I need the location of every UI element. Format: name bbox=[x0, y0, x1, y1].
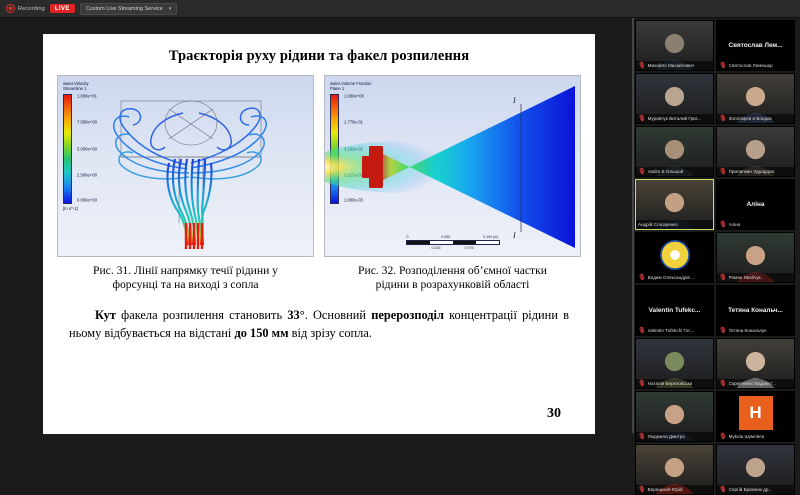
microphone-muted-icon: 🎙 bbox=[719, 63, 727, 69]
section-label-bottom: I bbox=[512, 231, 516, 240]
participant-avatar: Н bbox=[739, 396, 773, 430]
participant-tile[interactable]: 🎙Верецький Юрій bbox=[635, 444, 714, 495]
paragraph-emphasis: Кут bbox=[95, 308, 116, 322]
participant-name: Вадим Олександрів ... bbox=[648, 275, 695, 280]
participant-tile[interactable]: 🎙Вадим Олександрів ... bbox=[635, 232, 714, 283]
stream-service-dropdown[interactable]: Custom Live Streaming Service ▾ bbox=[80, 3, 178, 15]
participant-namebar: 🎙Сергій Бражник др.. bbox=[717, 485, 794, 494]
spray-cone-plot: I I bbox=[325, 76, 581, 256]
participant-tile[interactable]: 🎙Vadim Б Ольшой bbox=[635, 126, 714, 177]
microphone-muted-icon: 🎙 bbox=[638, 275, 646, 281]
participant-namebar: Андрій Слісаренко bbox=[636, 220, 713, 229]
figure-32-caption: Рис. 32. Розподілення об’ємної частки рі… bbox=[324, 264, 581, 293]
live-badge: LIVE bbox=[50, 4, 75, 13]
figure-31-colorbar bbox=[63, 94, 72, 204]
participant-name: Людмила Дмитро bbox=[648, 434, 685, 439]
participant-tile[interactable]: 🎙Муравчук Виталий Григ... bbox=[635, 73, 714, 124]
recording-label: Recording bbox=[18, 6, 45, 12]
figure-31: water.Velocity Streamline 1 1.000e+01 7.… bbox=[57, 75, 314, 293]
microphone-muted-icon: 🎙 bbox=[719, 222, 727, 228]
participant-namebar: 🎙Прилипкин Эдуардов. bbox=[717, 167, 794, 176]
participant-name: Valentin Tufekchi Гос... bbox=[648, 328, 695, 333]
scale-subtick: 0.075 bbox=[465, 246, 474, 250]
figure-32-caption-line2: рідини в розрахунковій області bbox=[324, 278, 581, 292]
microphone-muted-icon: 🎙 bbox=[638, 63, 646, 69]
microphone-muted-icon: 🎙 bbox=[638, 169, 646, 175]
participant-name: Vadim Б Ольшой bbox=[648, 169, 684, 174]
presentation-slide: Траєкторія руху рідини та факел розпилен… bbox=[43, 34, 595, 434]
shared-screen-stage[interactable]: Траєкторія руху рідини та факел розпилен… bbox=[0, 18, 632, 433]
participant-name: Золотарев и Бондас bbox=[729, 116, 772, 121]
participant-tile[interactable]: 🎙Наталія Березовська bbox=[635, 338, 714, 389]
participant-namebar: 🎙Михайло Михайлович bbox=[636, 61, 713, 70]
stream-service-label: Custom Live Streaming Service bbox=[86, 6, 163, 12]
figure-31-caption-line2: форсунці та на виході з сопла bbox=[57, 278, 314, 292]
participant-name: Аліна bbox=[729, 222, 741, 227]
participant-namebar: 🎙Муравчук Виталий Григ... bbox=[636, 114, 713, 123]
paragraph-text: . Основний bbox=[305, 308, 372, 322]
organization-logo-icon bbox=[660, 240, 690, 270]
participant-namebar: 🎙Людмила Дмитро bbox=[636, 432, 713, 441]
section-label-top: I bbox=[512, 96, 516, 105]
microphone-muted-icon: 🎙 bbox=[719, 116, 727, 122]
participant-name: Тетяна Кональчук bbox=[729, 328, 767, 333]
scale-tick: 0.100 (m) bbox=[483, 235, 498, 239]
figure-32-canvas: water.Volume Fraction Plane 1 1.000e+00 … bbox=[324, 75, 581, 257]
participant-name: Михайло Михайлович bbox=[648, 63, 695, 68]
paragraph-emphasis: до 150 мм bbox=[234, 326, 288, 340]
participant-tile[interactable]: Тетяна Кональч...🎙Тетяна Кональчук bbox=[716, 285, 795, 336]
microphone-muted-icon: 🎙 bbox=[719, 434, 727, 440]
paragraph-emphasis: 33° bbox=[287, 308, 304, 322]
participant-namebar: 🎙Mykola Шумляєв bbox=[717, 432, 794, 441]
participant-namebar: 🎙Роман Якобчук . bbox=[717, 273, 794, 282]
chevron-down-icon: ▾ bbox=[169, 6, 172, 12]
microphone-muted-icon: 🎙 bbox=[719, 381, 727, 387]
meeting-window: Recording LIVE Custom Live Streaming Ser… bbox=[0, 0, 800, 433]
participant-tile[interactable]: 🎙Скрипченко Вадим Г... bbox=[716, 338, 795, 389]
microphone-muted-icon: 🎙 bbox=[719, 487, 727, 493]
participant-tile[interactable]: Святослав Лем...🎙Святослав Лемешар bbox=[716, 20, 795, 71]
participant-namebar: 🎙Верецький Юрій bbox=[636, 485, 713, 494]
participant-tile[interactable]: Valentin Tufekc...🎙Valentin Tufekchi Гос… bbox=[635, 285, 714, 336]
participant-name: Верецький Юрій bbox=[648, 487, 683, 492]
participant-namebar: 🎙Скрипченко Вадим Г... bbox=[717, 379, 794, 388]
figure-31-canvas: water.Velocity Streamline 1 1.000e+01 7.… bbox=[57, 75, 314, 257]
slide-title: Траєкторія руху рідини та факел розпилен… bbox=[43, 48, 595, 65]
paragraph-text: факела розпилення становить bbox=[116, 308, 287, 322]
participant-tile[interactable]: 🎙Михайло Михайлович bbox=[635, 20, 714, 71]
participant-namebar: 🎙Наталія Березовська bbox=[636, 379, 713, 388]
participant-namebar: 🎙Золотарев и Бондас bbox=[717, 114, 794, 123]
microphone-muted-icon: 🎙 bbox=[719, 275, 727, 281]
figure-32-scalebar: 0 0.050 0.100 (m) 0.025 bbox=[406, 235, 500, 250]
participant-tile[interactable]: 🎙Золотарев и Бондас bbox=[716, 73, 795, 124]
participant-name: Роман Якобчук . bbox=[729, 275, 764, 280]
participant-name: Прилипкин Эдуардов. bbox=[729, 169, 776, 174]
meeting-body: Траєкторія руху рідини та факел розпилен… bbox=[0, 18, 800, 433]
participants-grid[interactable]: 🎙Михайло МихайловичСвятослав Лем...🎙Свят… bbox=[634, 18, 800, 433]
participant-tile[interactable]: 🎙Людмила Дмитро bbox=[635, 391, 714, 442]
participant-name: Андрій Слісаренко bbox=[638, 222, 678, 227]
microphone-muted-icon: 🎙 bbox=[638, 381, 646, 387]
participant-namebar: 🎙Vadim Б Ольшой bbox=[636, 167, 713, 176]
recording-indicator: Recording bbox=[6, 4, 45, 13]
participant-name: Mykola Шумляєв bbox=[729, 434, 764, 439]
figure-31-caption-line1: Рис. 31. Лінії напрямку течії рідини у bbox=[57, 264, 314, 278]
participant-namebar: 🎙Тетяна Кональчук bbox=[717, 326, 794, 335]
participant-tile[interactable]: Аліна🎙Аліна bbox=[716, 179, 795, 230]
participant-name: Наталія Березовська bbox=[648, 381, 693, 386]
participant-name: Муравчук Виталий Григ... bbox=[648, 116, 701, 121]
participant-name: Сергій Бражник др.. bbox=[729, 487, 771, 492]
figure-32: water.Volume Fraction Plane 1 1.000e+00 … bbox=[324, 75, 581, 293]
participant-tile[interactable]: 🎙Роман Якобчук . bbox=[716, 232, 795, 283]
participant-namebar: 🎙Вадим Олександрів ... bbox=[636, 273, 713, 282]
paragraph-text: від зрізу сопла. bbox=[289, 326, 372, 340]
participant-namebar: 🎙Святослав Лемешар bbox=[717, 61, 794, 70]
slide-paragraph: Кут факела розпилення становить 33°. Осн… bbox=[69, 307, 569, 342]
figure-31-caption: Рис. 31. Лінії напрямку течії рідини у ф… bbox=[57, 264, 314, 293]
page-number: 30 bbox=[547, 406, 561, 422]
participant-namebar: 🎙Valentin Tufekchi Гос... bbox=[636, 326, 713, 335]
microphone-muted-icon: 🎙 bbox=[719, 169, 727, 175]
participant-tile[interactable]: Андрій Слісаренко bbox=[635, 179, 714, 230]
participant-tile[interactable]: Н🎙Mykola Шумляєв bbox=[716, 391, 795, 442]
participant-tile[interactable]: 🎙Сергій Бражник др.. bbox=[716, 444, 795, 495]
scale-subtick: 0.025 bbox=[432, 246, 441, 250]
figures-row: water.Velocity Streamline 1 1.000e+01 7.… bbox=[43, 65, 595, 293]
paragraph-emphasis: перерозподіл bbox=[371, 308, 444, 322]
participant-name: Скрипченко Вадим Г... bbox=[729, 381, 776, 386]
record-dot-icon bbox=[6, 4, 15, 13]
microphone-muted-icon: 🎙 bbox=[719, 328, 727, 334]
recording-toolbar: Recording LIVE Custom Live Streaming Ser… bbox=[0, 0, 800, 18]
scale-tick: 0 bbox=[407, 235, 409, 239]
microphone-muted-icon: 🎙 bbox=[638, 434, 646, 440]
microphone-muted-icon: 🎙 bbox=[638, 328, 646, 334]
scale-tick: 0.050 bbox=[441, 235, 450, 239]
microphone-muted-icon: 🎙 bbox=[638, 487, 646, 493]
microphone-muted-icon: 🎙 bbox=[638, 116, 646, 122]
streamline-plot bbox=[91, 75, 291, 251]
participant-tile[interactable]: 🎙Прилипкин Эдуардов. bbox=[716, 126, 795, 177]
participant-name: Святослав Лемешар bbox=[729, 63, 773, 68]
figure-32-caption-line1: Рис. 32. Розподілення об’ємної частки bbox=[324, 264, 581, 278]
participant-namebar: 🎙Аліна bbox=[717, 220, 794, 229]
